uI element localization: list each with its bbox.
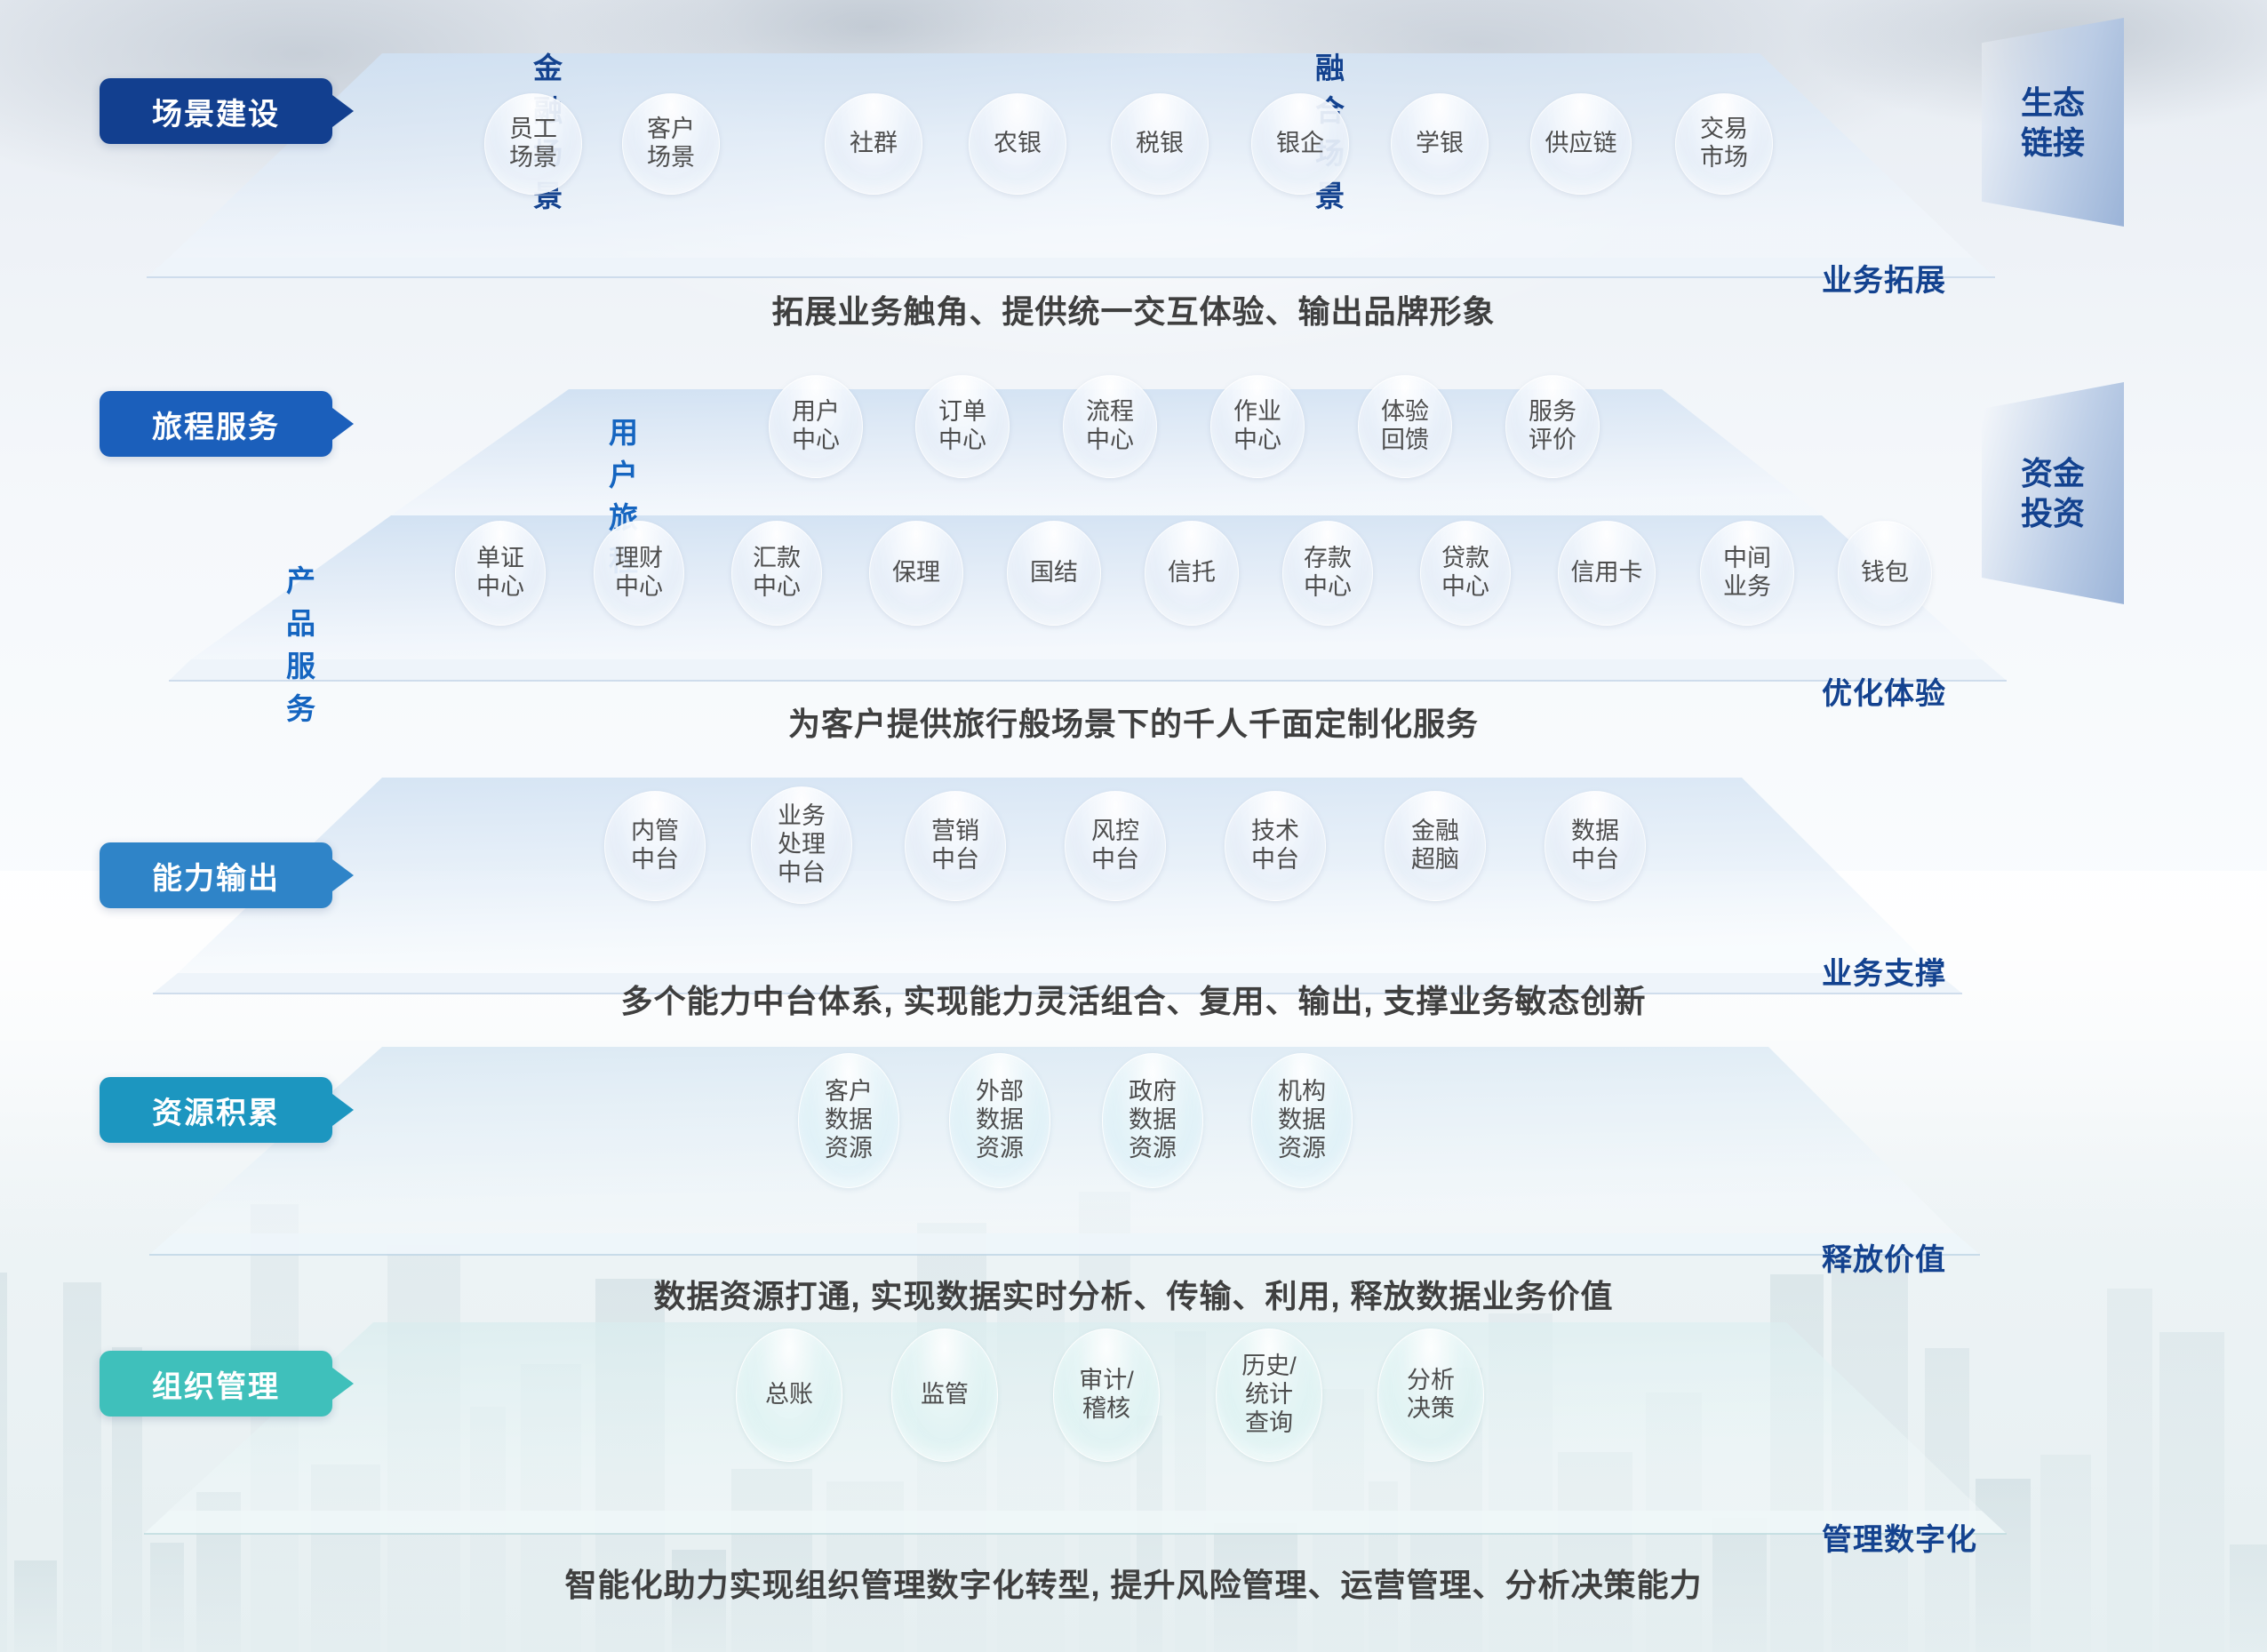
bubble-marketing-midend[interactable]: 营销中台	[905, 791, 1006, 901]
bubble-bank-enterprise[interactable]: 银企	[1251, 93, 1349, 195]
bubble-international-settlement[interactable]: 国结	[1007, 521, 1101, 626]
right-caption-layer1: 业务拓展	[1822, 256, 1946, 299]
bubble-internal-mgmt-midend[interactable]: 内管中台	[604, 791, 706, 901]
tag-journey-service[interactable]: 旅程服务	[100, 391, 332, 457]
tag-resource-accumulation[interactable]: 资源积累	[100, 1077, 332, 1143]
bubble-deposit-center[interactable]: 存款中心	[1282, 521, 1373, 626]
bubble-community[interactable]: 社群	[825, 93, 922, 195]
bubble-operation-center[interactable]: 作业中心	[1210, 375, 1305, 478]
banner-capital-investment: 资金 投资	[1982, 382, 2124, 604]
bubble-process-center[interactable]: 流程中心	[1063, 375, 1157, 478]
bubble-general-ledger[interactable]: 总账	[736, 1329, 842, 1462]
caption-layer5: 智能化助力实现组织管理数字化转型, 提升风险管理、运营管理、分析决策能力	[0, 1560, 2267, 1606]
banner-ecosystem-line1: 生态	[1982, 83, 2124, 123]
bubble-analysis-decision[interactable]: 分析决策	[1377, 1329, 1484, 1462]
bubble-institution-data-resource[interactable]: 机构数据资源	[1251, 1053, 1353, 1188]
bubble-supply-chain[interactable]: 供应链	[1530, 93, 1632, 195]
right-caption-layer3: 业务支撑	[1822, 949, 1946, 993]
bubble-agri-bank[interactable]: 农银	[969, 93, 1066, 195]
bubble-trading-market[interactable]: 交易市场	[1675, 93, 1773, 195]
bubble-order-center[interactable]: 订单中心	[915, 375, 1010, 478]
bubble-data-midend[interactable]: 数据中台	[1545, 791, 1646, 901]
bubble-external-data-resource[interactable]: 外部数据资源	[949, 1053, 1050, 1188]
bubble-risk-control-midend[interactable]: 风控中台	[1065, 791, 1166, 901]
bubble-wallet[interactable]: 钱包	[1838, 521, 1932, 626]
tag-capability-output[interactable]: 能力输出	[100, 842, 332, 908]
bubble-tax-bank[interactable]: 税银	[1111, 93, 1209, 195]
bubble-school-bank[interactable]: 学银	[1391, 93, 1489, 195]
bubble-experience-feedback[interactable]: 体验回馈	[1358, 375, 1452, 478]
tag-organization-management[interactable]: 组织管理	[100, 1351, 332, 1417]
banner-text-ecosystem: 生态 链接	[1982, 83, 2124, 163]
right-caption-layer2: 优化体验	[1822, 669, 1946, 713]
bubble-audit-inspection[interactable]: 审计/稽核	[1053, 1329, 1160, 1462]
banner-capital-line1: 资金	[1982, 453, 2124, 493]
right-caption-layer4: 释放价值	[1822, 1235, 1946, 1279]
banner-ecosystem-line2: 链接	[1982, 123, 2124, 163]
bubble-user-center[interactable]: 用户中心	[769, 375, 863, 478]
bubble-supervision[interactable]: 监管	[891, 1329, 998, 1462]
bubble-service-evaluation[interactable]: 服务评价	[1505, 375, 1600, 478]
bubble-employee-scene[interactable]: 员工场景	[484, 93, 582, 195]
bubble-government-data-resource[interactable]: 政府数据资源	[1102, 1053, 1203, 1188]
banner-ecosystem-link: 生态 链接	[1982, 18, 2124, 227]
bubble-history-statistics-query[interactable]: 历史/统计查询	[1216, 1329, 1322, 1462]
banner-text-capital: 资金 投资	[1982, 453, 2124, 533]
diagram-canvas: 场景建设 金融场景 融合场景 员工场景 客户场景 社群 农银 税银 银企 学银 …	[0, 0, 2267, 1652]
bubble-technology-midend[interactable]: 技术中台	[1225, 791, 1326, 901]
bubble-remittance-center[interactable]: 汇款中心	[731, 521, 822, 626]
bubble-trust[interactable]: 信托	[1145, 521, 1239, 626]
bubble-loan-center[interactable]: 贷款中心	[1420, 521, 1511, 626]
bubble-wealth-center[interactable]: 理财中心	[594, 521, 684, 626]
bubble-intermediary-business[interactable]: 中间业务	[1700, 521, 1794, 626]
bubble-customer-scene[interactable]: 客户场景	[622, 93, 720, 195]
bubble-business-processing-midend[interactable]: 业务处理中台	[751, 786, 852, 904]
tag-scene-construction[interactable]: 场景建设	[100, 78, 332, 144]
bubble-factoring[interactable]: 保理	[869, 521, 963, 626]
bubble-customer-data-resource[interactable]: 客户数据资源	[798, 1053, 899, 1188]
right-caption-layer5: 管理数字化	[1822, 1515, 1977, 1559]
banner-capital-line2: 投资	[1982, 493, 2124, 533]
bubble-credit-card[interactable]: 信用卡	[1558, 521, 1656, 626]
bubble-document-center[interactable]: 单证中心	[455, 521, 546, 626]
bubble-financial-brain[interactable]: 金融超脑	[1385, 791, 1486, 901]
